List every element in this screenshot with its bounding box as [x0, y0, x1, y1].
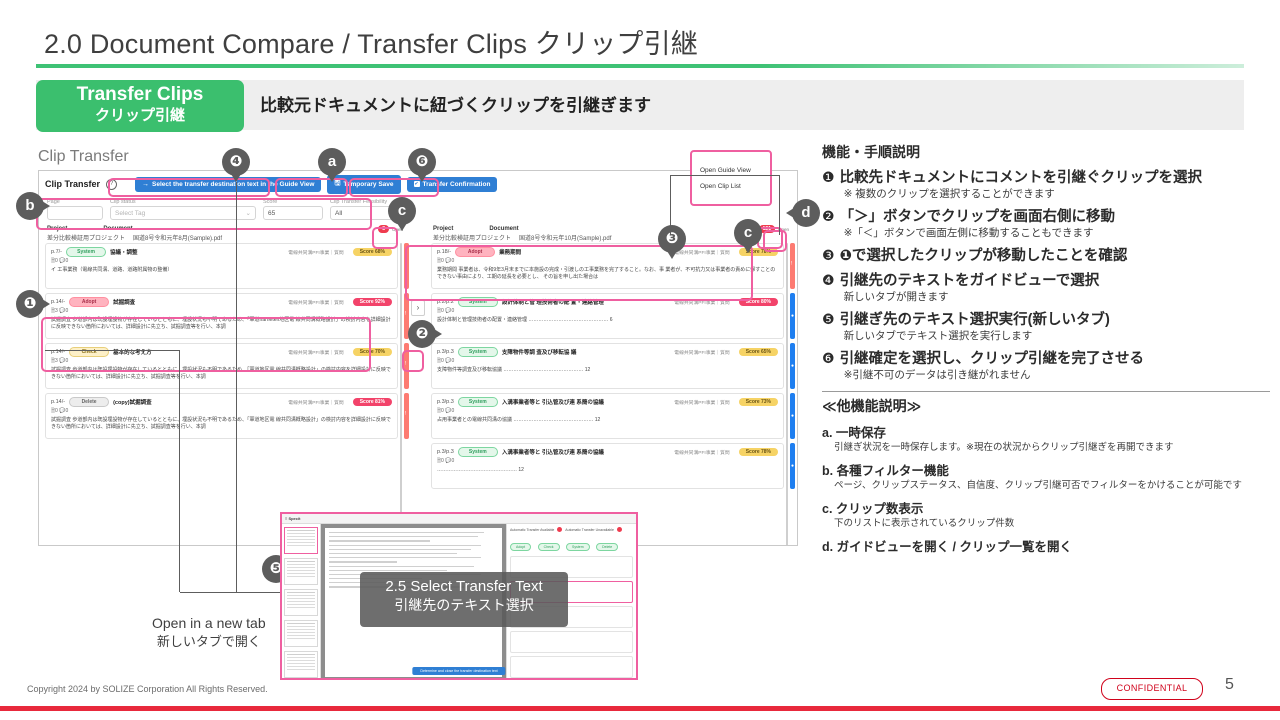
right-list-scrollbar[interactable]: [786, 243, 788, 546]
list-item[interactable]: p.3/p.3 System 支障物件等調 査及び移転協 議 電線共同溝PFI事…: [431, 343, 784, 389]
filter-page: Page: [47, 199, 103, 220]
callout-d: d: [792, 199, 820, 227]
clip-status-select[interactable]: Select Tag ⌄: [110, 206, 256, 220]
callout-1: ❶: [16, 290, 44, 318]
clip-columns: Project Document 8 Open 差分比較検証用プロジェクト 国道…: [39, 224, 797, 546]
context-menu[interactable]: Open Guide View Open Clip List: [690, 150, 772, 206]
clip-counts: 🗎0 💬0: [437, 308, 778, 316]
title-rule: [36, 64, 1244, 68]
tag-chip[interactable]: System: [566, 543, 590, 551]
popup-caption-ja: 引継先のテキスト選択: [360, 595, 568, 615]
instruction-step-2: ❷ 「＞」ボタンでクリップを画面右側に移動 ※「＜」ボタンで画面左側に移動するこ…: [822, 208, 1270, 240]
available-dot-icon: [617, 527, 622, 532]
score-badge: Score 78%: [739, 448, 778, 456]
section-badge-en: Transfer Clips: [36, 84, 244, 106]
leader-line-1: [179, 350, 180, 592]
screenshot-label: Clip Transfer: [38, 148, 129, 166]
move-right-button[interactable]: ›: [411, 300, 425, 316]
footer-spacer: [0, 711, 1280, 720]
other-feature-d: d. ガイドビューを開く / クリップ一覧を開く: [822, 536, 1270, 555]
status-badge: System: [458, 297, 498, 307]
app-logo: ≡ Specit: [285, 516, 300, 521]
status-badge: System: [66, 247, 106, 257]
score-badge: Score 80%: [739, 298, 778, 306]
temporary-save-button[interactable]: 🖫 Temporary Save: [327, 175, 400, 194]
status-badge: System: [458, 347, 498, 357]
status-badge: System: [458, 397, 498, 407]
score-badge: Score 73%: [739, 398, 778, 406]
score-badge: Score 81%: [353, 398, 392, 406]
score-badge: Score 70%: [353, 348, 392, 356]
copyright-text: Copyright 2024 by SOLIZE Corporation All…: [27, 684, 268, 694]
tag-filter-row[interactable]: Adopt Check System Delete: [510, 535, 633, 553]
instructions-panel: 機能・手順説明 ❶ 比較先ドキュメントにコメントを引継ぐクリップを選択 ※ 複数…: [822, 142, 1270, 555]
list-item[interactable]: p.14/- Delete (copy)試掘調査 電線共同溝PFI事業｜質問 S…: [45, 393, 398, 439]
arrow-right-icon: →: [142, 181, 149, 188]
callout-a: a: [318, 148, 346, 176]
list-item[interactable]: p.2/p.2 System 設計体制と管 理技術者の配 置・連絡管理 電線共同…: [431, 293, 784, 339]
divider: [822, 391, 1270, 392]
select-transfer-text-button[interactable]: → Select the transfer destination text i…: [135, 177, 321, 192]
page-filter-input[interactable]: [47, 206, 103, 220]
list-item[interactable]: p.14/- Adopt 試掘調査 電線共同溝PFI事業｜質問 Score 92…: [45, 293, 398, 339]
tag-chip[interactable]: Check: [538, 543, 560, 551]
other-feature-b: b. 各種フィルター機能 ページ、クリップステータス、自信度、クリップ引継可否で…: [822, 460, 1270, 492]
tag-chip[interactable]: Delete: [596, 543, 618, 551]
clip-counts: 🗎0 💬0: [437, 408, 778, 416]
confirm-transfer-text-button[interactable]: Determine and close the transfer destina…: [412, 667, 505, 675]
other-features-heading: ≪他機能説明≫: [822, 396, 1270, 416]
callout-3: ❸: [658, 225, 686, 253]
filter-bar: Page Clip status Select Tag ⌄ Score 65 C…: [39, 197, 797, 224]
left-clip-list[interactable]: p.7/- System 協議・調整 電線共同溝PFI事業｜質問 Score 6…: [39, 243, 411, 546]
confidential-badge: CONFIDENTIAL: [1101, 678, 1203, 700]
callout-4: ❹: [222, 148, 250, 176]
left-list-scrollbar[interactable]: [400, 243, 402, 546]
status-badge: Delete: [69, 397, 109, 407]
instructions-heading: 機能・手順説明: [822, 142, 1270, 162]
page-thumbnail[interactable]: [284, 527, 318, 554]
instruction-step-1: ❶ 比較先ドキュメントにコメントを引継ぐクリップを選択 ※ 複数のクリップを選択…: [822, 169, 1270, 201]
left-clip-count-badge: 8: [378, 225, 389, 233]
leader-line-4: [236, 182, 237, 592]
page-number: 5: [1225, 676, 1234, 694]
chevron-down-icon: ⌄: [246, 209, 251, 217]
menu-item-open-clip-list[interactable]: Open Clip List: [700, 183, 770, 190]
transfer-availability-row: Automatic Transfer Available Automatic T…: [510, 527, 633, 532]
instruction-step-3: ❸ ❶で選択したクリップが移動したことを確認: [822, 247, 1270, 265]
popup-caption: 2.5 Select Transfer Text 引継先のテキスト選択: [360, 572, 568, 627]
leader-line-d: [670, 175, 671, 235]
page-title: 2.0 Document Compare / Transfer Clips クリ…: [44, 22, 698, 61]
list-item[interactable]: p.7/- System 協議・調整 電線共同溝PFI事業｜質問 Score 6…: [45, 243, 398, 289]
score-badge: Score 68%: [353, 248, 392, 256]
new-tab-note: Open in a new tab 新しいタブで開く: [152, 615, 266, 650]
menu-item-open-guide-view[interactable]: Open Guide View: [700, 167, 770, 174]
callout-c-right: c: [734, 219, 762, 247]
clip-card[interactable]: [510, 631, 633, 653]
other-feature-a: a. 一時保存 引継ぎ状況を一時保存します。※現在の状況からクリップ引継ぎを再開…: [822, 422, 1270, 454]
page-thumbnail[interactable]: [284, 558, 318, 585]
score-filter-input[interactable]: 65: [263, 206, 323, 220]
status-badge: System: [458, 447, 498, 457]
page-thumbnail-rail[interactable]: [282, 524, 321, 680]
clip-card[interactable]: [510, 656, 633, 678]
section-badge-ja: クリップ引継: [36, 106, 244, 125]
score-badge: Score 65%: [739, 348, 778, 356]
callout-b: b: [16, 192, 44, 220]
move-buttons: › ‹: [411, 224, 425, 546]
leader-line-d3: [779, 175, 780, 235]
callout-c-left: c: [388, 197, 416, 225]
left-feasibility-markers: ! ! ! !: [404, 243, 409, 546]
left-clip-panel: Project Document 8 Open 差分比較検証用プロジェクト 国道…: [39, 224, 411, 546]
list-item[interactable]: p.3/p.3 System 入溝事業者等と 引込管及び連 系簡の協議 電線共同…: [431, 393, 784, 439]
tag-chip[interactable]: Adopt: [510, 543, 531, 551]
right-clip-panel: Project Document 121 Open 差分比較検証用プロジェクト …: [425, 224, 797, 546]
clip-counts: 🗎0 💬0: [437, 458, 778, 466]
clip-counts: 🗎3 💬0: [51, 358, 392, 366]
score-badge: Score 92%: [353, 298, 392, 306]
help-icon[interactable]: ?: [106, 179, 117, 190]
callout-6: ❻: [408, 148, 436, 176]
section-badge: Transfer Clips クリップ引継: [36, 80, 244, 132]
app-screenshot: Clip Transfer ? → Select the transfer de…: [38, 170, 798, 546]
popup-toolbar: ≡ Specit: [282, 514, 636, 524]
callout-2: ❷: [408, 320, 436, 348]
instruction-step-6: ❻ 引継確定を選択し、クリップ引継を完了させる ※引継不可のデータは引き継がれま…: [822, 350, 1270, 382]
leader-line-1b: [45, 350, 180, 351]
popup-caption-en: 2.5 Select Transfer Text: [360, 578, 568, 595]
filter-score: Score 65: [263, 199, 323, 220]
filter-clip-status: Clip status Select Tag ⌄: [110, 199, 256, 220]
right-clip-list[interactable]: p.18/- Adopt 業務期間 電線共同溝PFI事業｜質問 Score 78…: [425, 243, 797, 546]
status-badge: Adopt: [69, 297, 109, 307]
leader-line-d2: [670, 175, 780, 176]
app-title: Clip Transfer: [45, 179, 100, 189]
instruction-step-4: ❹ 引継先のテキストをガイドビューで選択 新しいタブが開きます: [822, 272, 1270, 304]
page-thumbnail[interactable]: [284, 620, 318, 647]
page-thumbnail[interactable]: [284, 589, 318, 616]
list-item[interactable]: p.3/p.3 System 入溝事業者等と 引込管及び連 系簡の協議 電線共同…: [431, 443, 784, 489]
status-badge: Check: [69, 347, 109, 357]
other-feature-c: c. クリップ数表示 下のリストに表示されているクリップ件数: [822, 498, 1270, 530]
clip-counts: 🗎3 💬0: [51, 308, 392, 316]
page-thumbnail[interactable]: [284, 651, 318, 678]
left-panel-header: Project Document 8 Open 差分比較検証用プロジェクト 国道…: [39, 224, 411, 243]
instruction-step-5: ❺ 引継ぎ先のテキスト選択実行(新しいタブ) 新しいタブでテキスト選択を実行しま…: [822, 311, 1270, 343]
clip-counts: 🗎0 💬0: [51, 408, 392, 416]
clip-counts: 🗎0 💬0: [437, 258, 778, 266]
section-caption: 比較元ドキュメントに紐づくクリップを引継ぎます: [260, 83, 651, 129]
status-badge: Adopt: [455, 247, 495, 257]
clip-counts: 🗎0 💬0: [51, 258, 392, 266]
right-feasibility-markers: ! ● ● ● ●: [790, 243, 795, 546]
unavailable-dot-icon: [557, 527, 562, 532]
clip-counts: 🗎0 💬0: [437, 358, 778, 366]
list-item[interactable]: p.18/- Adopt 業務期間 電線共同溝PFI事業｜質問 Score 78…: [431, 243, 784, 289]
